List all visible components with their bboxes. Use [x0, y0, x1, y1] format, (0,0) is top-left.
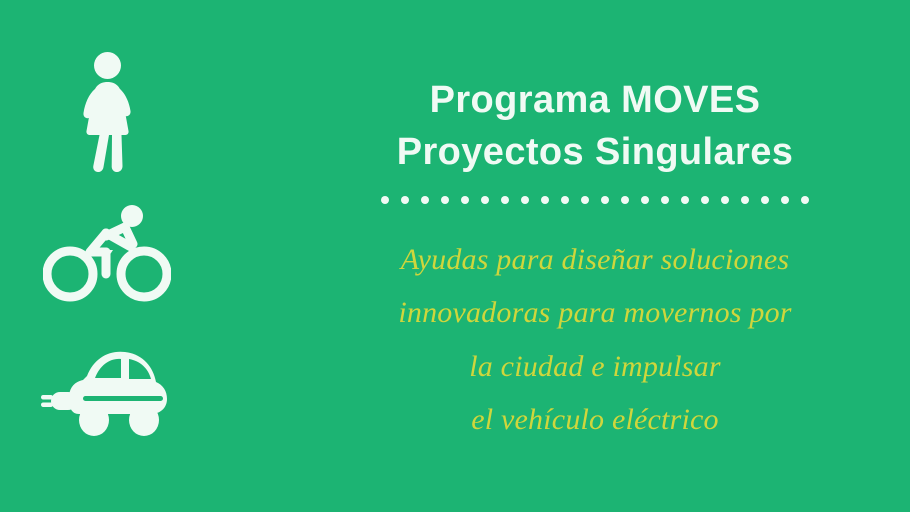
divider-dot — [741, 196, 749, 204]
headline-line-1: Programa MOVES — [300, 74, 890, 126]
subtitle-line-1: Ayudas para diseñar soluciones — [300, 233, 890, 286]
electric-car-icon-slot — [22, 332, 192, 452]
divider-dot — [601, 196, 609, 204]
bicycle-icon — [43, 200, 171, 308]
divider-dot — [501, 196, 509, 204]
divider-dot — [441, 196, 449, 204]
promo-poster: Programa MOVES Proyectos Singulares Ayud… — [0, 0, 910, 512]
subtitle-line-2: innovadoras para movernos por — [300, 286, 890, 339]
divider-dot — [681, 196, 689, 204]
divider-dot — [801, 196, 809, 204]
divider-dot — [581, 196, 589, 204]
divider-dot — [661, 196, 669, 204]
divider-dot — [481, 196, 489, 204]
divider-dot — [761, 196, 769, 204]
divider-dot — [561, 196, 569, 204]
transport-icon-column — [22, 44, 192, 464]
divider-dot — [401, 196, 409, 204]
page-title: Programa MOVES Proyectos Singulares — [300, 74, 890, 179]
divider-dot — [701, 196, 709, 204]
pedestrian-icon-slot — [22, 50, 192, 180]
electric-car-icon — [39, 342, 175, 442]
divider-dot — [621, 196, 629, 204]
dotted-divider — [300, 193, 890, 207]
divider-dot — [381, 196, 389, 204]
subtitle-line-3: la ciudad e impulsar — [300, 340, 890, 393]
divider-dot — [641, 196, 649, 204]
divider-dot — [461, 196, 469, 204]
divider-dot — [721, 196, 729, 204]
divider-dot — [521, 196, 529, 204]
subtitle-line-4: el vehículo eléctrico — [300, 393, 890, 446]
headline-line-2: Proyectos Singulares — [300, 126, 890, 178]
divider-dot — [781, 196, 789, 204]
poster-text-block: Programa MOVES Proyectos Singulares Ayud… — [300, 74, 890, 446]
pedestrian-icon — [70, 51, 144, 179]
bicycle-icon-slot — [22, 194, 192, 314]
divider-dot — [421, 196, 429, 204]
subtitle: Ayudas para diseñar soluciones innovador… — [300, 233, 890, 447]
divider-dot — [541, 196, 549, 204]
